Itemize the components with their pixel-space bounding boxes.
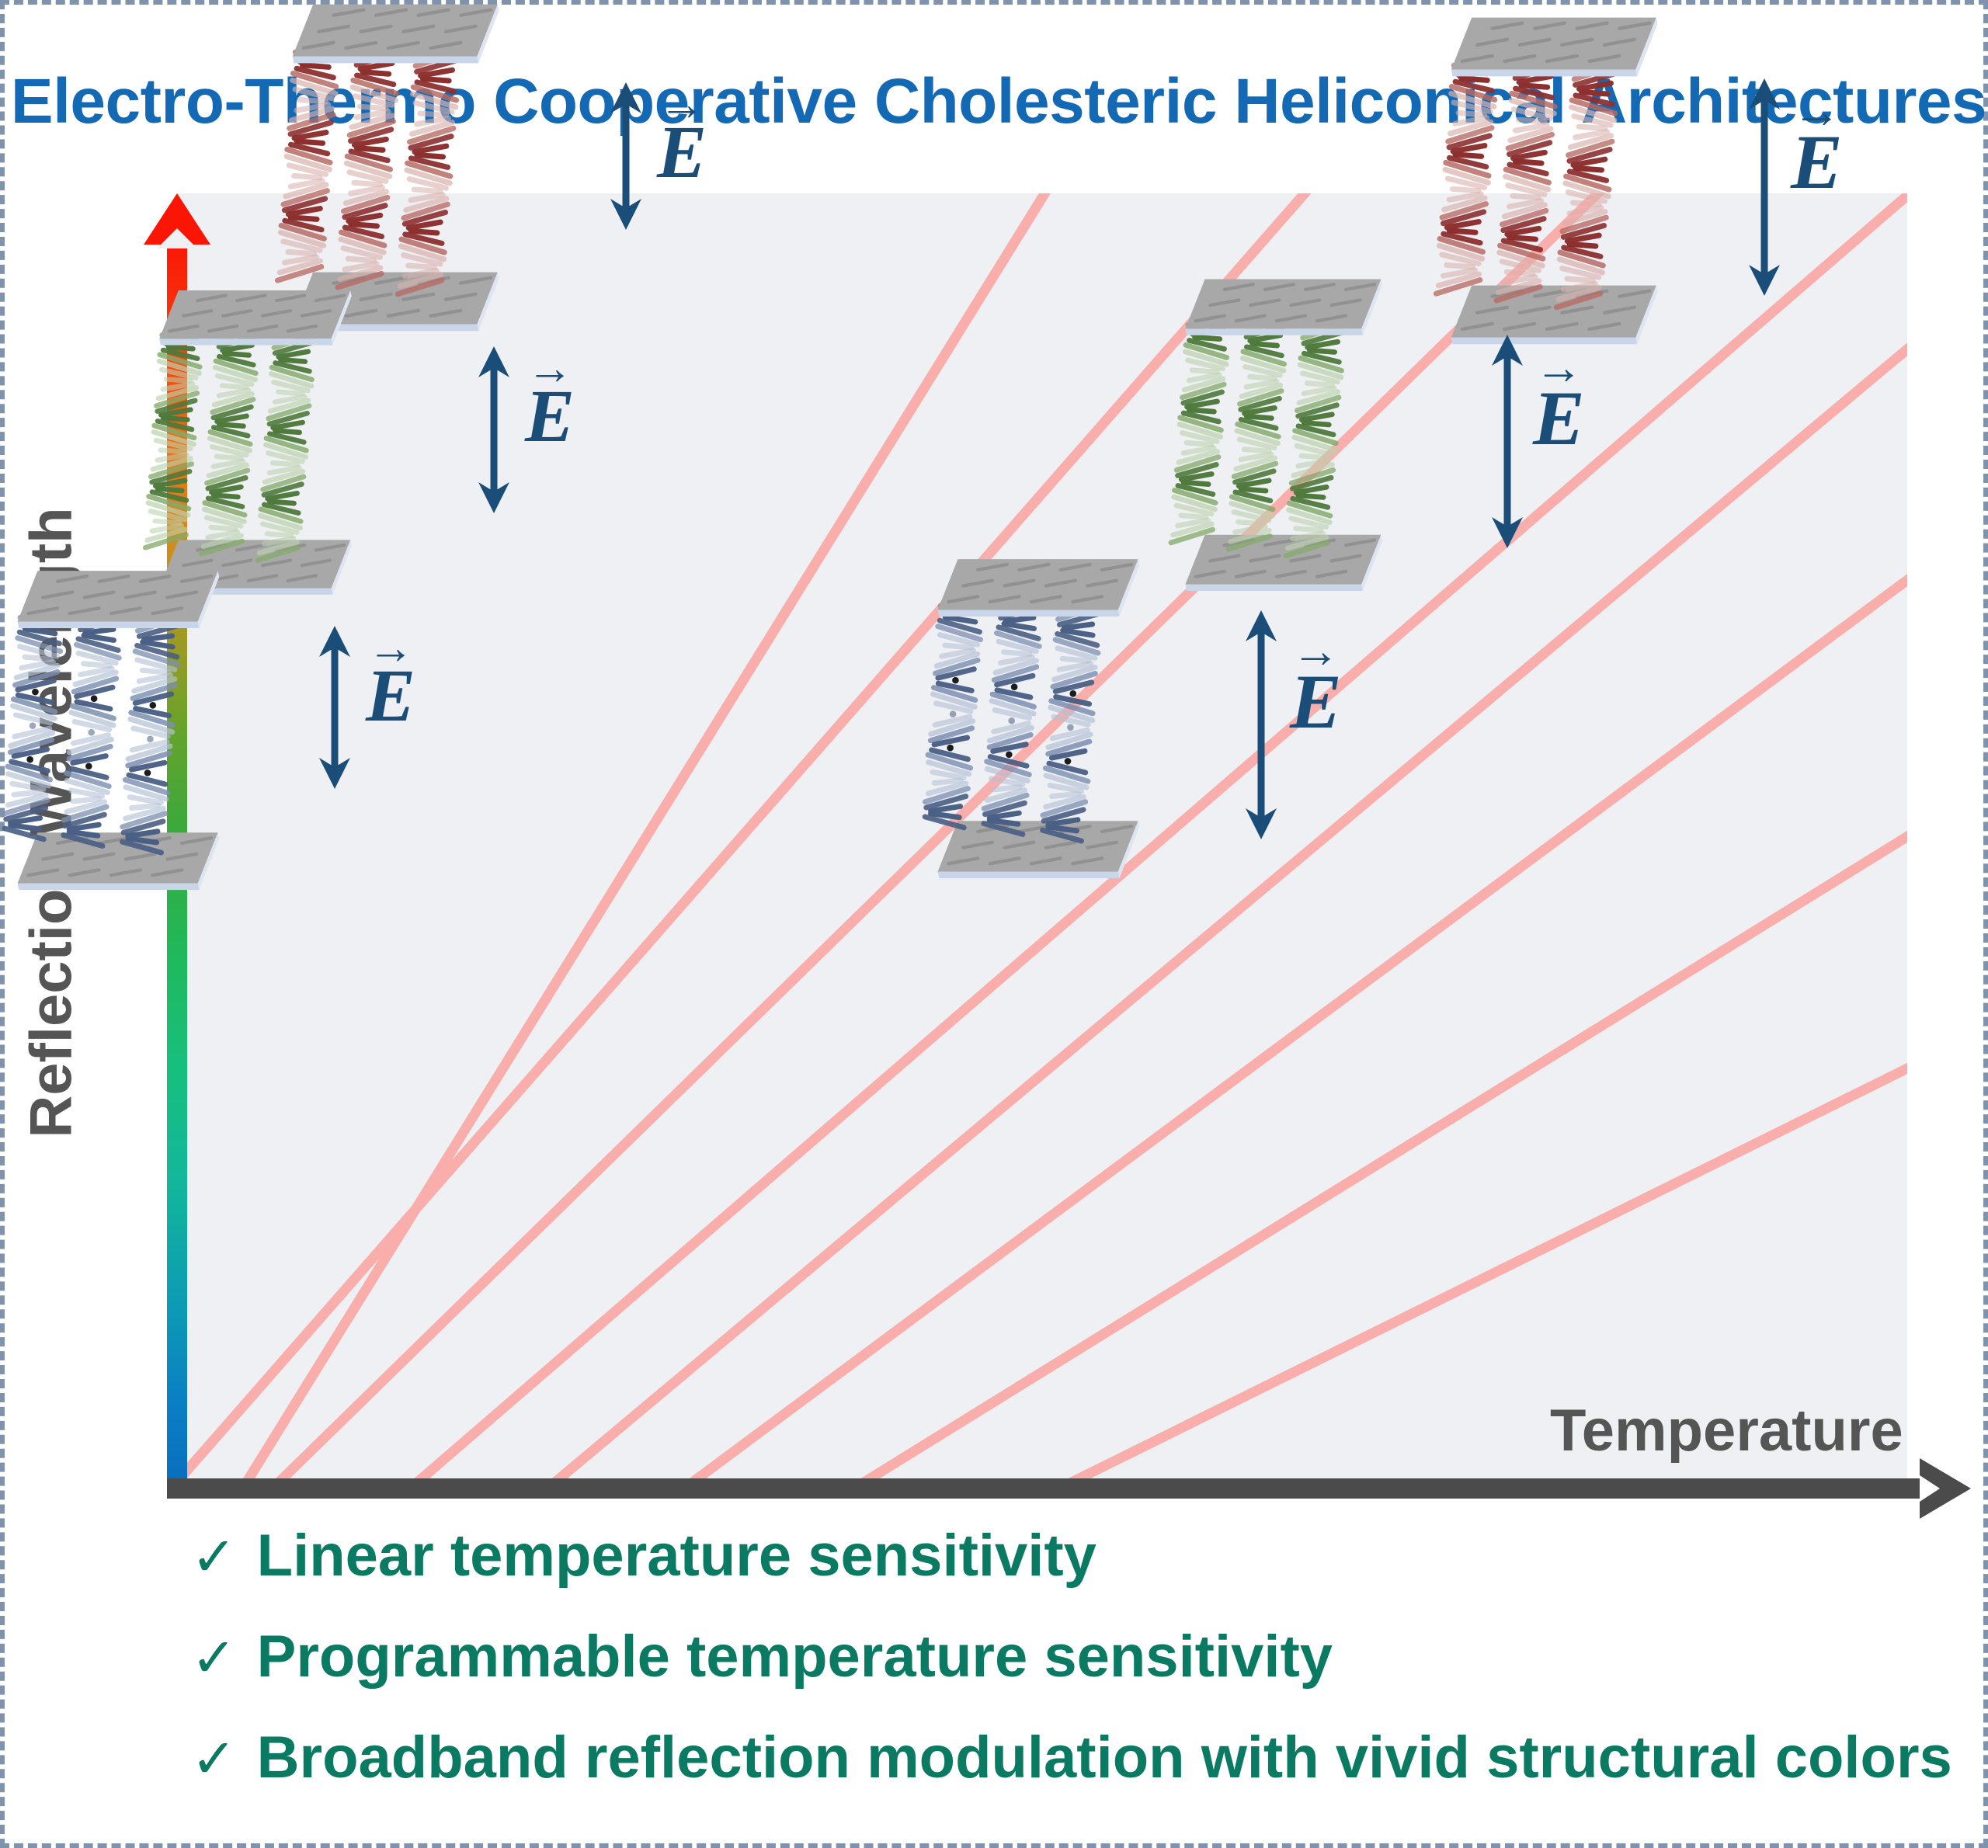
cell-blue-left — [0, 552, 258, 899]
schematic-plot: Reflection Wavelength Temperature →E→E→E… — [5, 5, 1988, 1558]
check-icon: ✓ — [191, 1733, 237, 1787]
check-icon: ✓ — [191, 1531, 237, 1586]
cell-red-right — [1410, 0, 1698, 354]
e-field-double-arrow-icon — [603, 82, 649, 230]
e-field-double-arrow-icon — [1741, 78, 1788, 296]
cell-green-right — [1146, 261, 1420, 600]
e-field-letter: E — [1791, 119, 1843, 205]
cell-blue-right — [898, 540, 1178, 888]
e-field-letter: E — [525, 374, 575, 457]
e-field-double-arrow-icon — [1238, 610, 1284, 839]
e-field-letter: E — [366, 654, 415, 737]
bullet-text: Broadband reflection modulation with viv… — [257, 1727, 1952, 1789]
e-field-letter: E — [657, 110, 707, 193]
e-field-label: →E — [1791, 102, 1843, 201]
e-field-label: →E — [1533, 358, 1585, 457]
feature-bullet-list: ✓ Linear temperature sensitivity ✓ Progr… — [191, 1525, 1946, 1827]
e-field-double-arrow-icon — [311, 626, 358, 789]
list-item: ✓ Programmable temperature sensitivity — [191, 1626, 1946, 1688]
e-field-letter: E — [1533, 375, 1585, 461]
x-axis-arrow-notch — [1920, 1475, 1940, 1502]
list-item: ✓ Broadband reflection modulation with v… — [191, 1727, 1946, 1789]
e-field-letter: E — [1290, 658, 1342, 745]
e-field-label: →E — [525, 358, 575, 453]
bullet-text: Linear temperature sensitivity — [257, 1525, 1097, 1587]
x-axis-label: Temperature — [1550, 1397, 1903, 1464]
e-field-label: →E — [657, 94, 707, 189]
bullet-text: Programmable temperature sensitivity — [257, 1626, 1333, 1688]
check-icon: ✓ — [191, 1632, 237, 1686]
x-axis-line — [167, 1478, 1931, 1499]
list-item: ✓ Linear temperature sensitivity — [191, 1525, 1946, 1587]
e-field-label: →E — [1290, 641, 1342, 741]
e-field-double-arrow-icon — [471, 346, 517, 513]
poster-frame: Electro-Thermo Cooperative Cholesteric H… — [0, 0, 1988, 1848]
y-axis-arrow-notch — [157, 228, 197, 248]
e-field-label: →E — [366, 637, 415, 733]
e-field-double-arrow-icon — [1484, 335, 1531, 548]
